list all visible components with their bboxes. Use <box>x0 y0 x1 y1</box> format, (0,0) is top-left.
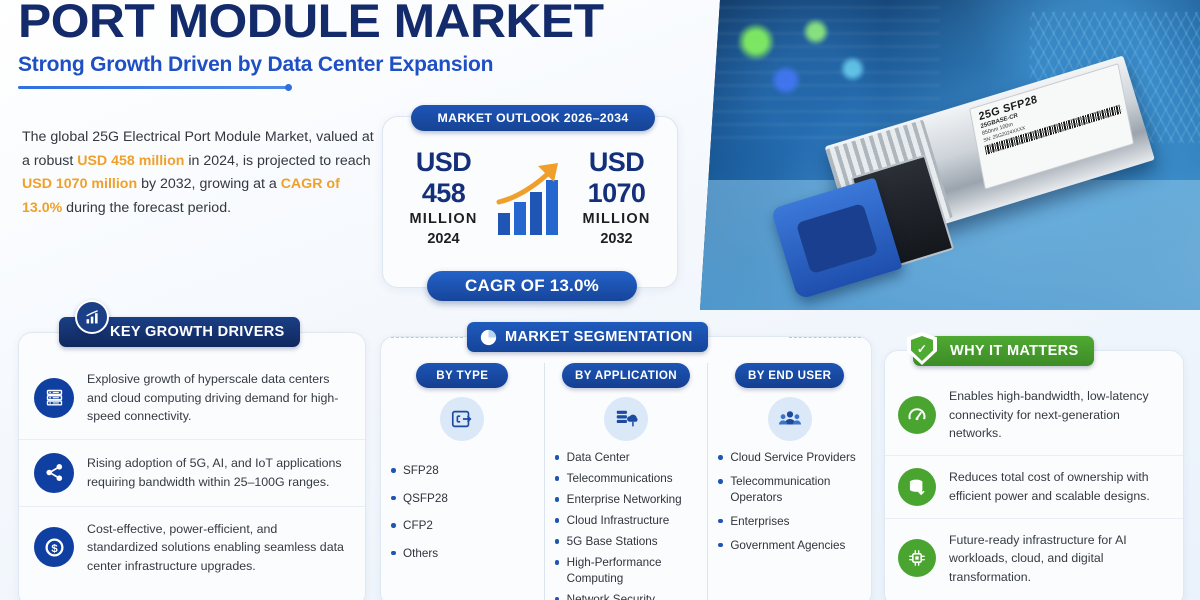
list-item: SFP28 <box>390 463 535 479</box>
outlook-right-year: 2032 <box>566 231 667 247</box>
segment-list-type: SFP28 QSFP28 CFP2 Others <box>390 463 535 561</box>
intro-line-2-post: in 2024, <box>184 153 238 169</box>
share-network-icon <box>34 453 74 493</box>
module-port-icon <box>440 397 484 441</box>
list-item: Cloud Infrastructure <box>554 513 699 529</box>
dollar-icon: $ <box>34 527 74 567</box>
users-group-icon <box>768 397 812 441</box>
pie-chart-icon <box>480 329 497 346</box>
segmentation-deco-left <box>391 337 463 338</box>
driver-row: Explosive growth of hyperscale data cent… <box>19 357 365 440</box>
title-underline-accent <box>18 86 290 89</box>
outlook-right-figure: USD 1070 MILLION 2032 <box>566 147 667 247</box>
bar-chart-icon <box>75 300 109 334</box>
segmentation-column-end-user: BY END USER Cloud Service Providers Tele… <box>707 363 871 600</box>
list-item: Data Center <box>554 450 699 466</box>
driver-text: Rising adoption of 5G, AI, and IoT appli… <box>87 454 349 491</box>
why-text: Enables high-bandwidth, low-latency conn… <box>949 387 1169 443</box>
why-badge: ✓ WHY IT MATTERS <box>913 336 1094 366</box>
market-segmentation-panel: MARKET SEGMENTATION BY TYPE SFP28 QSFP28… <box>380 336 872 600</box>
outlook-left-figure: USD 458 MILLION 2024 <box>393 147 494 247</box>
outlook-left-year: 2024 <box>393 231 494 247</box>
intro-line-1: The global 25G Electrical Port Module Ma… <box>22 129 312 145</box>
value-2032: USD 1070 million <box>22 176 137 192</box>
product-photo: 25G SFP28 25GBASE-CR 850nm 100m SN: 25G2… <box>700 0 1200 310</box>
why-text: Reduces total cost of ownership with eff… <box>949 468 1169 505</box>
segmentation-column-application: BY APPLICATION Data Center Telecommunica… <box>544 363 708 600</box>
value-2024: USD 458 million <box>77 153 184 169</box>
segment-list-end-user: Cloud Service Providers Telecommunicatio… <box>717 450 862 553</box>
server-cloud-icon <box>604 397 648 441</box>
segmentation-badge: MARKET SEGMENTATION <box>467 322 708 352</box>
intro-line-3-pre: is projected to reach <box>243 153 371 169</box>
list-item: Network Security Appliances <box>554 592 699 600</box>
market-outlook-card: MARKET OUTLOOK 2026–2034 USD 458 MILLION… <box>382 116 678 288</box>
driver-row: $ Cost-effective, power-efficient, and s… <box>19 507 365 589</box>
why-row: Reduces total cost of ownership with eff… <box>885 456 1183 519</box>
intro-line-4-post: during the <box>62 200 129 216</box>
segment-title-type: BY TYPE <box>416 363 508 388</box>
why-badge-label: WHY IT MATTERS <box>950 343 1079 359</box>
intro-line-3-post: by 2032, <box>137 176 195 192</box>
database-download-icon <box>898 468 936 506</box>
cpu-chip-icon <box>898 539 936 577</box>
driver-row: Rising adoption of 5G, AI, and IoT appli… <box>19 440 365 507</box>
page-subtitle: Strong Growth Driven by Data Center Expa… <box>18 53 678 77</box>
segmentation-deco-right <box>789 337 861 338</box>
segment-title-application: BY APPLICATION <box>562 363 690 388</box>
list-item: QSFP28 <box>390 491 535 507</box>
outlook-badge: MARKET OUTLOOK 2026–2034 <box>411 105 655 131</box>
segmentation-badge-label: MARKET SEGMENTATION <box>505 329 693 345</box>
driver-text: Explosive growth of hyperscale data cent… <box>87 370 349 426</box>
list-item: Telecommunication Operators <box>717 474 862 505</box>
why-row: Future-ready infrastructure for AI workl… <box>885 519 1183 599</box>
driver-text: Cost-effective, power-efficient, and sta… <box>87 520 349 576</box>
list-item: Enterprises <box>717 514 862 530</box>
why-text: Future-ready infrastructure for AI workl… <box>949 531 1169 587</box>
outlook-right-unit: MILLION <box>566 211 667 227</box>
list-item: Government Agencies <box>717 538 862 554</box>
outlook-right-value: USD 1070 <box>566 147 667 209</box>
list-item: Cloud Service Providers <box>717 450 862 466</box>
key-growth-drivers-panel: KEY GROWTH DRIVERS Explosive growth of h… <box>18 332 366 600</box>
page-title: PORT MODULE MARKET <box>18 0 718 48</box>
list-item: Telecommunications <box>554 471 699 487</box>
list-item: Others <box>390 546 535 562</box>
gauge-icon <box>898 396 936 434</box>
outlook-body: USD 458 MILLION 2024 USD 1070 MILLION 20… <box>383 147 677 247</box>
why-row: Enables high-bandwidth, low-latency conn… <box>885 375 1183 456</box>
svg-text:$: $ <box>51 543 58 555</box>
cagr-badge: CAGR OF 13.0% <box>427 271 637 301</box>
list-item: CFP2 <box>390 518 535 534</box>
list-item: 5G Base Stations <box>554 534 699 550</box>
outlook-left-unit: MILLION <box>393 211 494 227</box>
list-item: High-Performance Computing <box>554 555 699 586</box>
header: PORT MODULE MARKET Strong Growth Driven … <box>18 0 678 89</box>
drivers-badge-label: KEY GROWTH DRIVERS <box>110 324 285 340</box>
segment-title-end-user: BY END USER <box>735 363 844 388</box>
outlook-left-value: USD 458 <box>393 147 494 209</box>
server-rack-icon <box>34 378 74 418</box>
why-it-matters-panel: ✓ WHY IT MATTERS Enables high-bandwidth,… <box>884 350 1184 600</box>
intro-line-5: forecast period. <box>133 200 231 216</box>
growth-bar-chart <box>494 158 566 236</box>
intro-paragraph: The global 25G Electrical Port Module Ma… <box>22 126 374 220</box>
segmentation-columns: BY TYPE SFP28 QSFP28 CFP2 Others BY APPL… <box>381 337 871 600</box>
drivers-badge: KEY GROWTH DRIVERS <box>59 317 300 347</box>
list-item: Enterprise Networking <box>554 492 699 508</box>
segmentation-column-type: BY TYPE SFP28 QSFP28 CFP2 Others <box>381 363 544 600</box>
intro-line-4-pre: growing at a <box>199 176 280 192</box>
segment-list-application: Data Center Telecommunications Enterpris… <box>554 450 699 600</box>
